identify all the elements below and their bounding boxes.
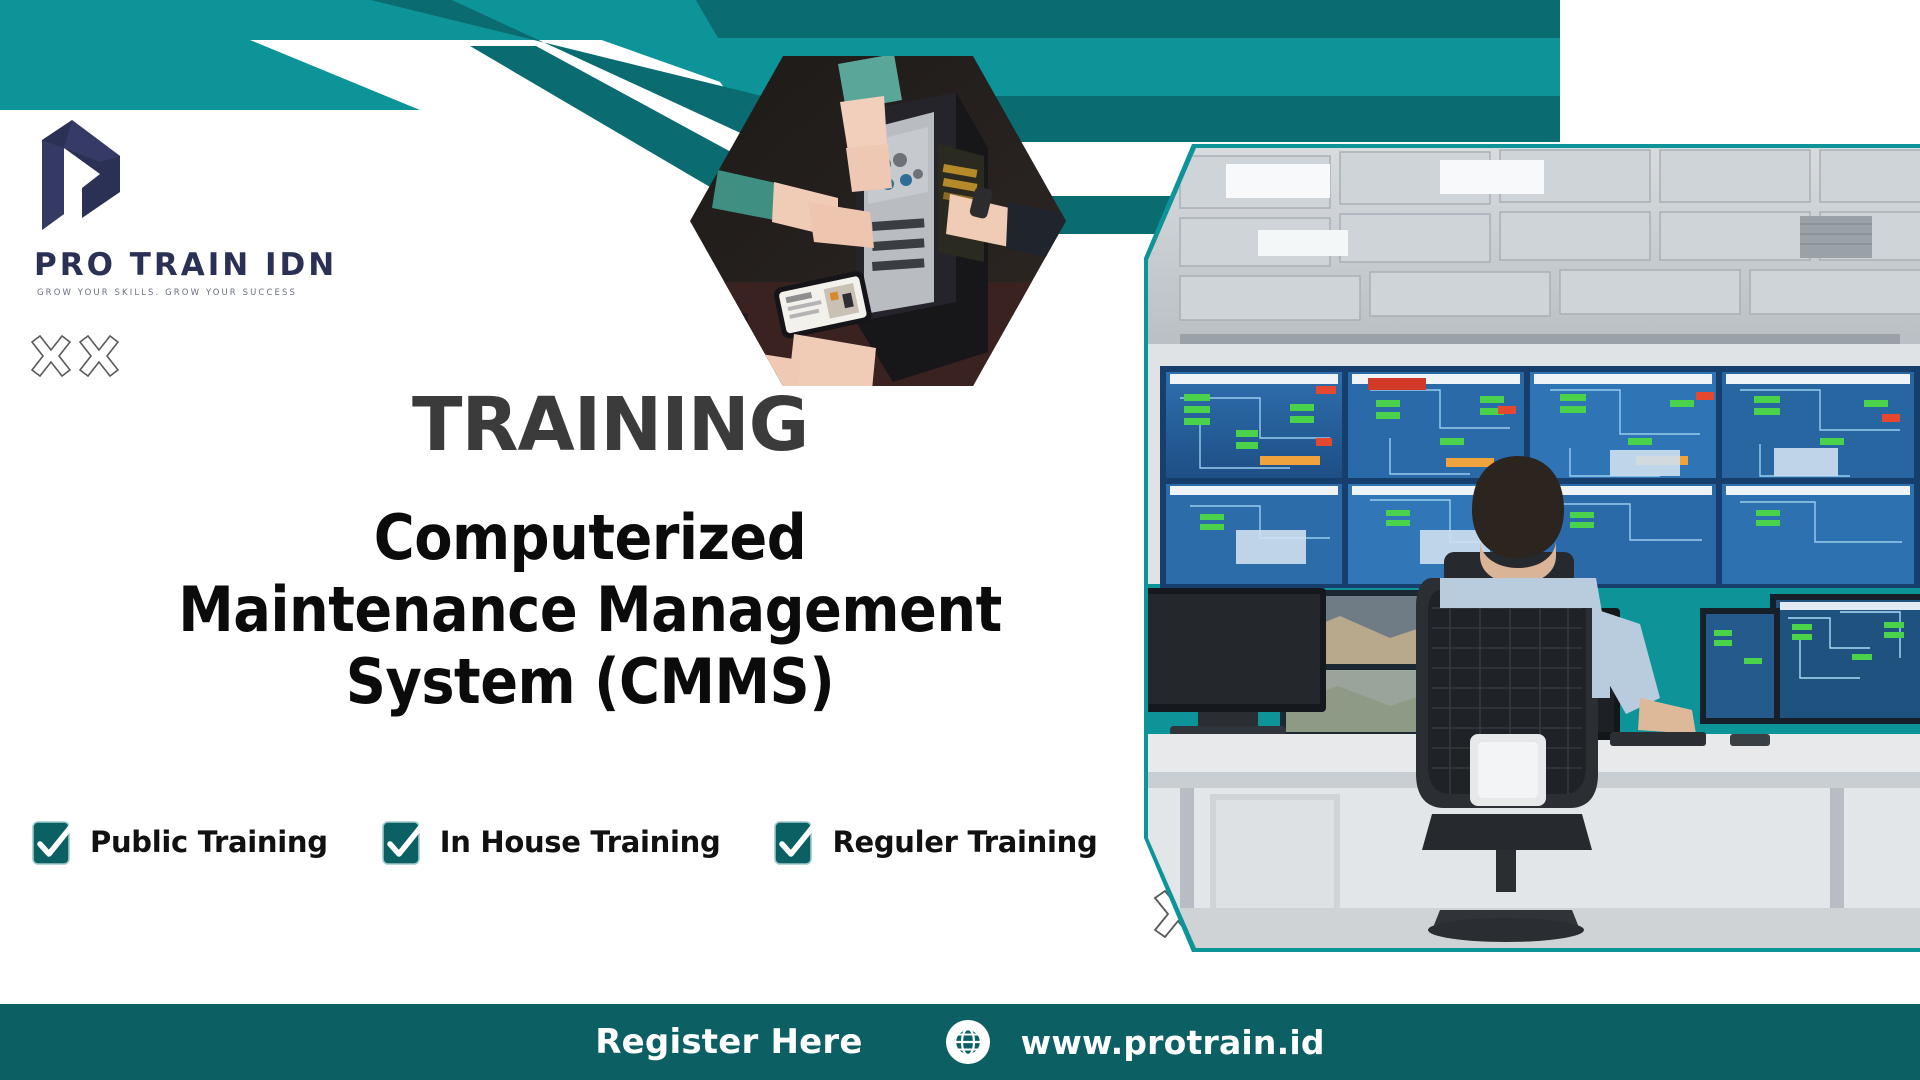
checkbox-checked-icon[interactable]: [380, 818, 426, 866]
brand-name: PRO TRAIN IDN: [34, 247, 364, 283]
footer-bar: Register Here www.protrain.id: [0, 1004, 1920, 1080]
page-kicker: TRAINING: [412, 388, 808, 462]
training-option-inhouse[interactable]: In House Training: [380, 818, 721, 866]
pro-train-arrow-logo-icon: [34, 118, 126, 236]
training-option-label: Public Training: [90, 825, 328, 859]
training-options-list: Public Training In House Training Regule…: [30, 818, 1097, 866]
control-room-photo: [1140, 138, 1920, 958]
page-title: Computerized Maintenance Management Syst…: [60, 502, 1120, 718]
x-ornament-pair-top: [26, 334, 126, 390]
hexagon-photo-computer-repair: [688, 52, 1068, 390]
title-line-2: Maintenance Management: [60, 574, 1120, 646]
training-option-reguler[interactable]: Reguler Training: [772, 818, 1097, 866]
title-line-3: System (CMMS): [60, 646, 1120, 718]
training-option-label: Reguler Training: [832, 825, 1097, 859]
title-line-1: Computerized: [60, 502, 1120, 574]
control-room-photo-panel: [1140, 138, 1920, 958]
checkbox-checked-icon[interactable]: [30, 818, 76, 866]
website-url[interactable]: www.protrain.id: [1021, 1023, 1325, 1062]
checkbox-checked-icon[interactable]: [772, 818, 818, 866]
training-option-public[interactable]: Public Training: [30, 818, 328, 866]
poster-canvas: PRO TRAIN IDN GROW YOUR SKILLS. GROW YOU…: [0, 0, 1920, 1080]
register-here-label[interactable]: Register Here: [595, 1022, 862, 1062]
globe-icon: [945, 1019, 991, 1065]
training-option-label: In House Training: [440, 825, 721, 859]
brand-tagline: GROW YOUR SKILLS. GROW YOUR SUCCESS: [37, 288, 364, 298]
brand-logo: PRO TRAIN IDN GROW YOUR SKILLS. GROW YOU…: [34, 118, 364, 298]
